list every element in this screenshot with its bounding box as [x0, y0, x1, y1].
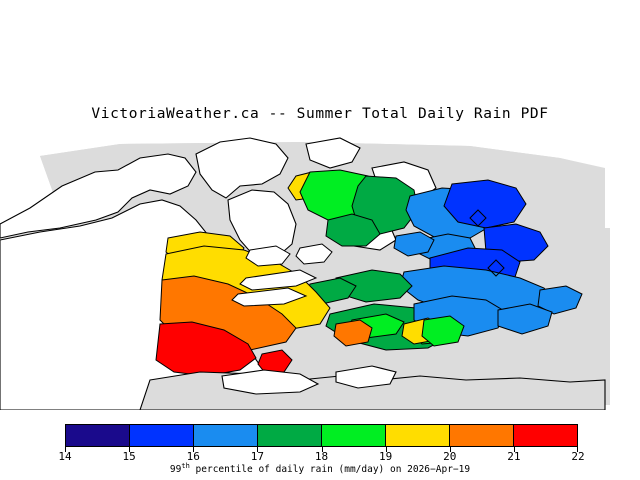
- colorbar-swatches: [65, 424, 578, 447]
- contour-map-svg: [0, 128, 640, 410]
- colorbar-segment-14-15: [66, 425, 130, 446]
- caption-superscript: th: [181, 462, 189, 470]
- colorbar: 141516171819202122 99th percentile of da…: [65, 424, 578, 476]
- caption-rest: percentile of daily rain (mm/day) on 202…: [190, 464, 470, 475]
- page-title: VictoriaWeather.ca -- Summer Total Daily…: [0, 106, 640, 122]
- map-canvas: [0, 128, 640, 410]
- colorbar-segment-18-19: [322, 425, 386, 446]
- colorbar-segment-19-20: [386, 425, 450, 446]
- colorbar-segment-16-17: [194, 425, 258, 446]
- weather-map-page: VictoriaWeather.ca -- Summer Total Daily…: [0, 0, 640, 480]
- colorbar-segment-20-21: [450, 425, 514, 446]
- colorbar-segment-21-22: [514, 425, 577, 446]
- colorbar-segment-15-16: [130, 425, 194, 446]
- colorbar-segment-17-18: [258, 425, 322, 446]
- colorbar-caption: 99th percentile of daily rain (mm/day) o…: [0, 462, 640, 475]
- caption-prefix: 99: [170, 464, 181, 475]
